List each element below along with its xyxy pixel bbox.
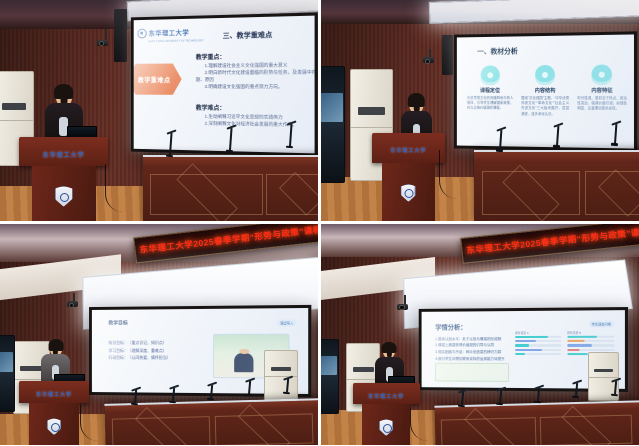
presenter-hair [382, 342, 397, 353]
chart-bar [567, 344, 614, 346]
bench-panel [214, 413, 314, 445]
bench-diamond [562, 406, 611, 445]
chart-bar [515, 353, 561, 355]
bench-panel [540, 415, 633, 445]
chart-bar [515, 349, 561, 351]
logo-ring-icon [138, 29, 147, 39]
camera-icon [67, 301, 78, 307]
chart-bar [515, 340, 561, 342]
university-logo: 东华理工大学 EAST CHINA UNIVERSITY OF TECHNOLO… [138, 22, 204, 44]
goal-line: 知识目标：（重点识记、知识点） [108, 339, 170, 347]
chart-bar [567, 349, 614, 351]
chart-bar [567, 336, 614, 338]
bench-diamond [503, 164, 560, 221]
panel-bottom-left: 东华理工大学2025春季学期“形势与政策”课程教学竞赛 教学目标 课堂导入 知识… [0, 224, 318, 445]
goal-line: 行动目标：（认同热爱、情怀担当） [108, 354, 170, 362]
chart-bar [567, 340, 614, 342]
goals-list: 知识目标：（重点识记、知识点） 学习目标：（理解深度、重难点） 行动目标：（认同… [108, 339, 170, 362]
block-line: 2.明白新时代文化建设面临的形势与任务，及发展中存在着的问 [196, 70, 318, 78]
presenter-hair [408, 93, 425, 107]
vertical-information-display[interactable] [0, 335, 15, 412]
bench-panel [150, 174, 262, 215]
conference-bench [474, 150, 639, 221]
presenter-hair [54, 84, 74, 99]
block-heading: 教学重点： [196, 52, 318, 63]
logo-text-cn: 东华理工大学 [149, 30, 190, 38]
analysis-list: 1.整体认知水平：处于认知与情感的形成期 2.情感上期望获得价值观的引导与认同 … [436, 336, 505, 362]
chart-label: 调查项目 B [567, 331, 614, 335]
magnifier-circle-icon [481, 65, 500, 85]
wall-speaker [114, 9, 127, 62]
analysis-title: 学情分析： [436, 321, 467, 331]
conference-bench [435, 400, 639, 445]
panel-top-left: 东华理工大学 EAST CHINA UNIVERSITY OF TECHNOLO… [0, 0, 318, 221]
analysis-column: 内容结构 围绕“文化强国”主题，“中华优秀传统文化”“革命文化”“社会主义先进文… [522, 65, 570, 117]
bench-diamond [464, 408, 514, 445]
analysis-note-box [436, 363, 509, 382]
column-paragraph: 时代性强，紧扣当下热点，政治性突出，强调价值引领；实践性明显，注重理论联系实际。 [578, 96, 628, 112]
analysis-line: 4.部分学生对理论联系实际的运用能力待提升 [436, 356, 505, 363]
panel-top-right: 一、教材分析 课程定位 先进思想文化的传播阵地与育人载体，引导学生理解国家政策，… [321, 0, 639, 221]
analysis-line: 3.现实困惑与不足：碎片化信息的辨识力弱 [436, 349, 505, 356]
podium: 东华理工大学 [19, 381, 89, 445]
bench-diamond [279, 172, 318, 216]
podium-label: 东华理工大学 [43, 150, 85, 159]
wall-speaker [442, 35, 453, 75]
slide-title: 三、教学重难点 [223, 31, 273, 42]
bench-diamond [238, 404, 291, 445]
cable [105, 164, 144, 213]
column-caption: 课程定位 [467, 87, 513, 94]
vertical-information-display[interactable] [321, 339, 339, 414]
podium: 东华理工大学 [372, 133, 445, 221]
cable [439, 150, 472, 199]
slide-tag: 课堂导入 [277, 319, 296, 326]
bench-panel [585, 171, 639, 215]
bench-panel [266, 174, 318, 215]
analysis-column: 内容特征 时代性强，紧扣当下热点，政治性突出，强调价值引领；实践性明显，注重理论… [578, 64, 628, 117]
bench-panel [111, 416, 211, 445]
target-circle-icon [592, 64, 613, 84]
slide-tag: 学情调查问卷 [589, 320, 615, 327]
camera-icon [397, 304, 408, 310]
slide-title: 一、教材分析 [478, 46, 519, 56]
column-paragraph: 围绕“文化强国”主题，“中华优秀传统文化”“革命文化”“社会主义先进文化”三大板… [522, 96, 570, 117]
block-line: 2.深刻阐释文化对经济社会发展的重大作用。 [196, 121, 297, 130]
panel-bottom-right: 东华理工大学2025春季学期“形势与政策”课程教学竞赛 学情分析： 学情调查问卷… [321, 224, 639, 445]
podium-label: 东华理工大学 [368, 393, 404, 400]
conference-bench [143, 155, 318, 221]
podium-label: 东华理工大学 [390, 147, 426, 154]
bench-diamond [599, 169, 639, 216]
chart-bar [515, 344, 561, 346]
survey-chart: 调查项目 A [515, 331, 561, 357]
bench-panel [442, 417, 537, 445]
analysis-columns: 课程定位 先进思想文化的传播阵地与育人载体，引导学生理解国家政策，树立正确价值观… [467, 64, 627, 117]
bench-panel [482, 171, 580, 215]
presenter-hair [48, 339, 63, 350]
slide-key-points: 东华理工大学 EAST CHINA UNIVERSITY OF TECHNOLO… [134, 16, 315, 153]
bench-diamond [135, 406, 188, 445]
podium: 东华理工大学 [19, 137, 108, 221]
podium-label: 东华理工大学 [36, 391, 72, 398]
clock-circle-icon [535, 65, 555, 85]
camera-icon [423, 57, 434, 63]
bench-diamond [176, 164, 237, 221]
slide-textbook-analysis: 一、教材分析 课程定位 先进思想文化的传播阵地与育人载体，引导学生理解国家政策，… [457, 35, 635, 149]
logo-text-en: EAST CHINA UNIVERSITY OF TECHNOLOGY [149, 40, 204, 44]
analysis-line: 2.情感上期望获得价值观的引导与认同 [436, 342, 505, 349]
vertical-information-display[interactable] [321, 66, 345, 183]
projection-screen: 一、教材分析 课程定位 先进思想文化的传播阵地与育人载体，引导学生理解国家政策，… [454, 31, 638, 151]
chart-label: 调查项目 A [515, 331, 561, 335]
chart-bar [515, 336, 561, 338]
column-caption: 内容特征 [578, 87, 628, 94]
block-heading: 教学难点： [196, 103, 297, 113]
column-paragraph: 先进思想文化的传播阵地与育人载体，引导学生理解国家政策，树立正确价值观的课程。 [467, 96, 513, 112]
goals-heading: 教学目标 [108, 319, 127, 326]
block-line: 3.明确建设文化强国的重点努力方向。 [196, 85, 318, 92]
photo-collage: 东华理工大学 EAST CHINA UNIVERSITY OF TECHNOLO… [0, 0, 639, 446]
camera-icon [97, 40, 108, 46]
analysis-column: 课程定位 先进思想文化的传播阵地与育人载体，引导学生理解国家政策，树立正确价值观… [467, 65, 513, 117]
goal-line: 学习目标：（理解深度、重难点） [108, 347, 170, 355]
column-caption: 内容结构 [522, 87, 570, 94]
key-points-block: 教学重点： 1.理解建设社会主义文化强国的重大意义 2.明白新时代文化建设面临的… [196, 52, 318, 92]
difficult-points-block: 教学难点： 1.生动阐释习近平文化思想的实践伟力 2.深刻阐释文化对经济社会发展… [196, 103, 297, 129]
key-points-badge: 教学重难点 [131, 64, 182, 96]
